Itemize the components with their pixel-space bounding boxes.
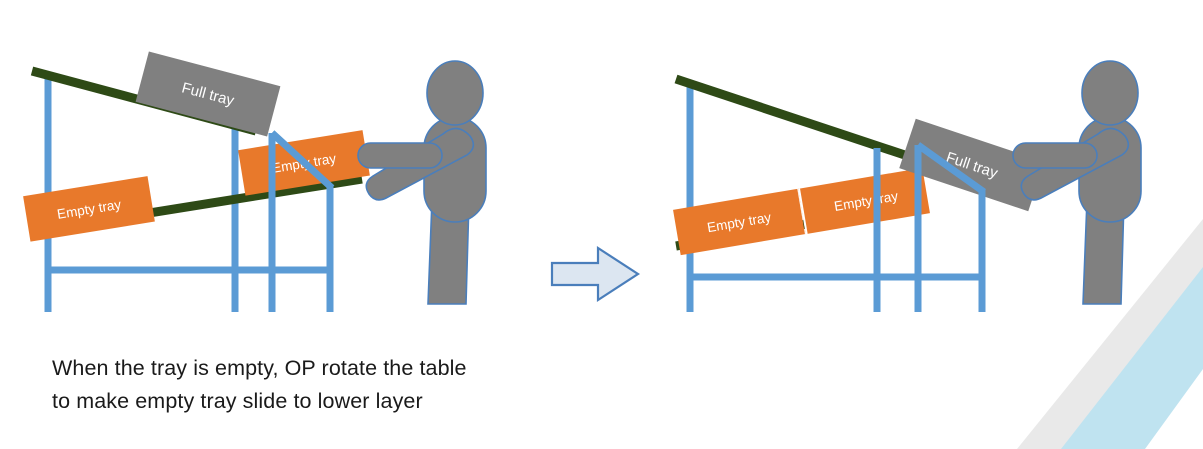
after-illustration: Empty tray Empty tray Full tray xyxy=(650,0,1203,330)
operator-figure-after xyxy=(1013,61,1141,304)
operator-figure-before xyxy=(358,61,486,304)
arrow-icon xyxy=(548,243,644,305)
operator-head xyxy=(1082,61,1138,125)
diagram-panel-after: Empty tray Empty tray Full tray xyxy=(650,0,1203,449)
diagram-panel-before: Full tray Empty tray Empty tray xyxy=(0,0,540,449)
operator-head xyxy=(427,61,483,125)
slide-canvas: Full tray Empty tray Empty tray xyxy=(0,0,1203,449)
transition-arrow xyxy=(548,243,644,305)
empty-tray-right-after: Empty tray xyxy=(798,168,930,234)
operator-arm-lower xyxy=(358,143,442,168)
empty-tray-lower-before: Empty tray xyxy=(23,176,155,242)
caption-before: When the tray is empty, OP rotate the ta… xyxy=(52,352,472,418)
right-arrow-icon xyxy=(552,248,638,300)
operator-arm-lower xyxy=(1013,143,1097,168)
before-illustration: Full tray Empty tray Empty tray xyxy=(0,0,540,330)
full-tray-before: Full tray xyxy=(136,51,281,136)
